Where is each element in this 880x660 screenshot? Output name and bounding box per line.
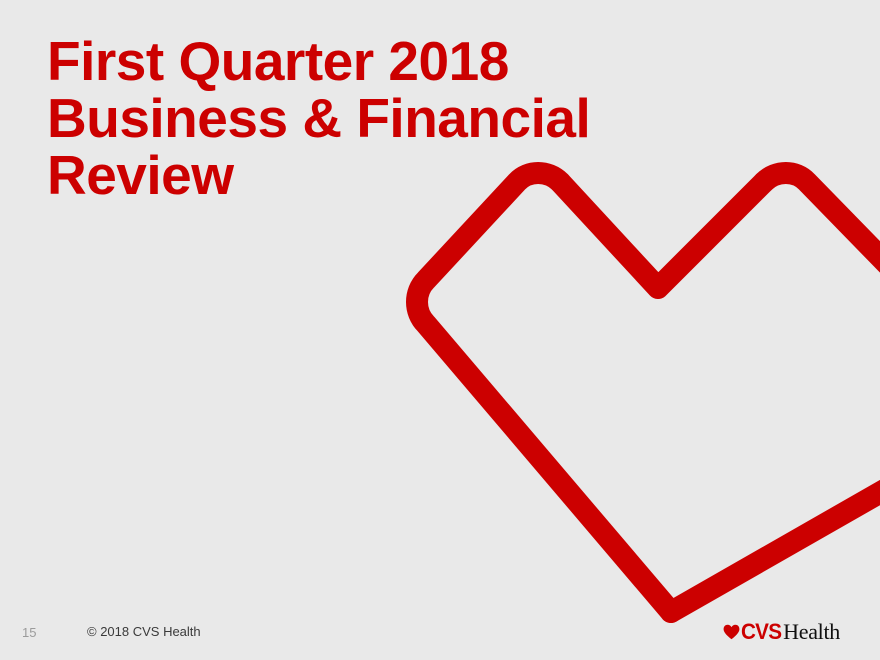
logo-mark-cvs: CVS [741, 621, 781, 643]
page-title: First Quarter 2018 Business & Financial … [47, 33, 687, 204]
logo-wordmark-health: Health [783, 621, 840, 643]
title-line-1: First Quarter 2018 [47, 33, 687, 90]
cvs-heart-outline-icon [400, 160, 880, 640]
copyright-notice: © 2018 CVS Health [87, 624, 201, 640]
presentation-slide: First Quarter 2018 Business & Financial … [0, 0, 880, 660]
page-number: 15 [22, 625, 36, 641]
cvs-health-logo: CVS Health [723, 620, 840, 644]
title-line-2: Business & Financial [47, 90, 687, 147]
slide-footer: 15 © 2018 CVS Health CVS Health [0, 612, 880, 660]
heart-icon [723, 624, 740, 640]
title-line-3: Review [47, 147, 687, 204]
